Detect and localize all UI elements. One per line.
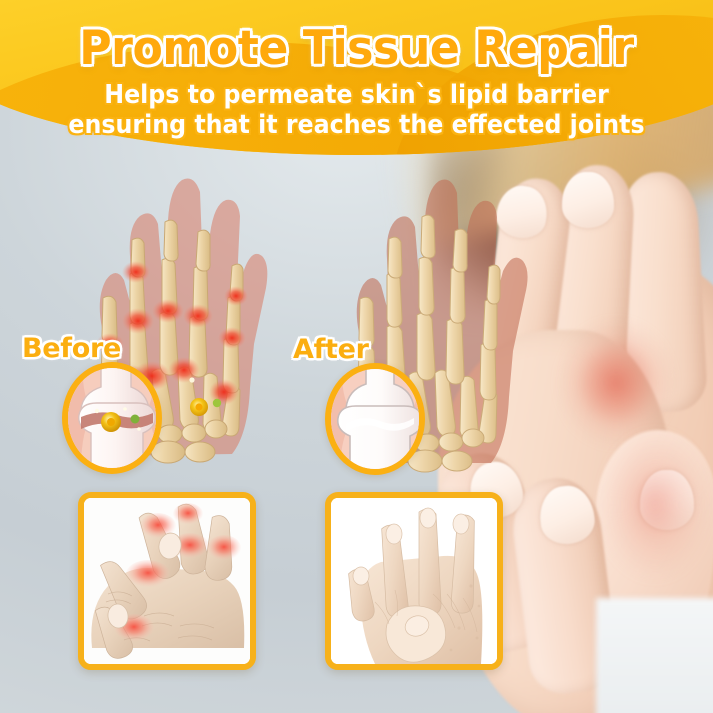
photo-fingernail-two [562,172,614,228]
joint-closeup-inflamed-svg [62,362,162,474]
label-before: Before [22,333,121,364]
poster-root: Promote Tissue Repair Helps to permeate … [0,0,713,713]
header-swoosh-right [393,15,713,155]
photo-inflammation-glow-primary [556,318,676,448]
photo-white-coat [596,598,713,713]
joint-closeup-healthy [325,363,425,475]
arthritic-hands-photo-content [84,498,250,664]
healthy-hand-svg [331,498,497,664]
joint-closeup-healthy-svg [325,363,425,475]
healthy-hand-photo [325,492,503,670]
healthy-hand-photo-content [331,498,497,664]
joint-closeup-inflamed [62,362,162,474]
arthritic-hands-photo [78,492,256,670]
label-after: After [293,334,369,365]
arthritic-hands-svg [84,498,250,664]
photo-inflammation-glow-secondary [600,430,710,580]
header-banner [0,0,713,155]
